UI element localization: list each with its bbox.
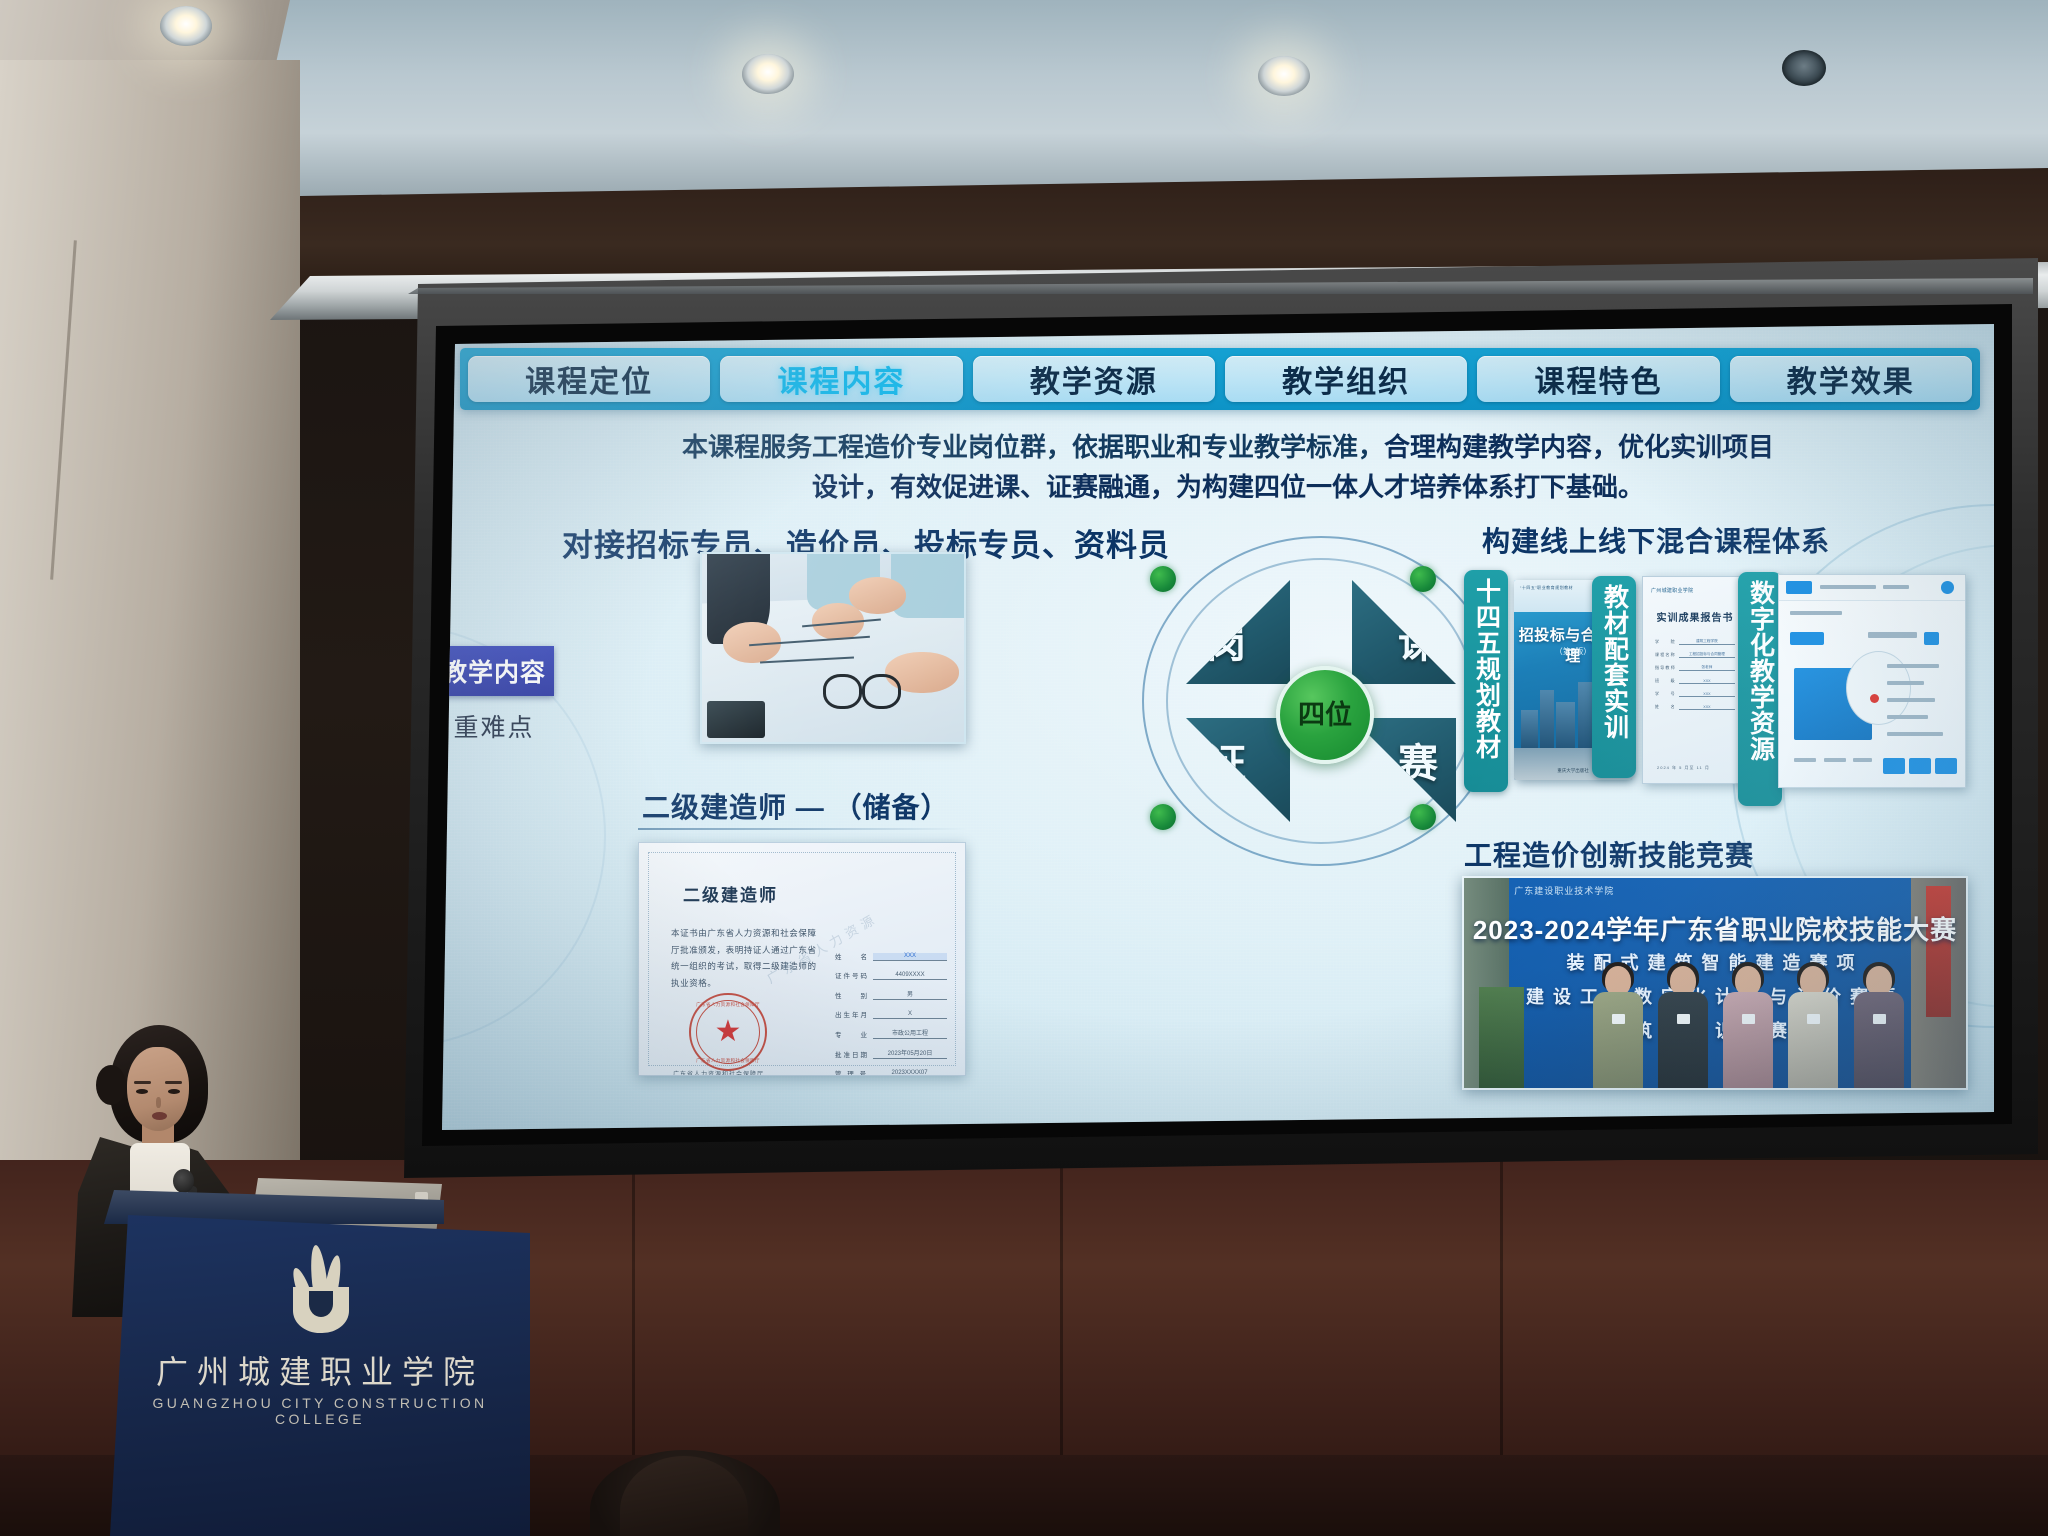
cert-field-label: 批准日期	[835, 1049, 869, 1059]
cert-field-value: X	[873, 1011, 947, 1019]
heading-blended-course-system: 构建线上线下混合课程体系	[1482, 520, 1830, 560]
webshot-record-dot-icon	[1870, 694, 1879, 703]
competition-student	[1851, 966, 1907, 1088]
webshot-line	[1887, 664, 1939, 668]
cert-field-label: 证件号码	[835, 970, 869, 980]
webshot-user-chip	[1941, 581, 1954, 594]
student-body	[1854, 992, 1904, 1090]
webshot-nav-text	[1883, 585, 1909, 589]
vtab-training-materials: 教材配套实训	[1592, 576, 1636, 778]
webshot-stat	[1824, 758, 1846, 762]
digital-platform-screenshot	[1778, 574, 1966, 788]
webshot-line	[1887, 698, 1935, 702]
vtab-digital-resources: 数字化教学资源	[1738, 572, 1782, 806]
wall-crack	[50, 240, 77, 579]
report-field-label: 课程名称	[1655, 652, 1676, 658]
webshot-heading	[1868, 632, 1916, 638]
webshot-status-chip	[1924, 632, 1939, 645]
report-field-value: XXX	[1679, 679, 1735, 684]
textbook-series-line: “十四五”职业教育规划教材	[1520, 585, 1573, 591]
report-field-value: 工程招投标与合同管理	[1679, 652, 1735, 658]
report-field-row: 学 院 建筑工程学院	[1655, 639, 1735, 645]
webshot-action-badge[interactable]	[1935, 758, 1957, 774]
cert-field-value: 2023年05月20日	[873, 1048, 947, 1059]
certificate-field-row: 姓 名 XXX	[835, 951, 947, 961]
four-in-one-diagram: 岗 课 证 赛 四位	[1142, 536, 1500, 866]
tag-teaching-content-label: 教学内容	[442, 646, 554, 696]
certificate-footer: 广东省人力资源和社会保障厅	[673, 1069, 764, 1076]
certificate-field-list: 姓 名 XXX 证件号码 4409XXXX 性 别 男 出生年月 X	[835, 951, 947, 1076]
report-field-value: XXX	[1679, 705, 1735, 710]
subtitle-line2: 设计，有效促进课、证赛融通，为构建四位一体人才培养体系打下基础。	[538, 468, 1918, 508]
webshot-nav-text	[1820, 585, 1876, 589]
cert-field-value: 男	[873, 989, 947, 1000]
webshot-action-badge[interactable]	[1909, 758, 1931, 774]
conference-room: 课程定位 课程内容 教学资源 教学组织 课程特色 教学效果 本课程服务工程造价专…	[0, 0, 2048, 1536]
webshot-brand-mark	[1790, 632, 1823, 645]
college-name-en: GUANGZHOU CITY CONSTRUCTION COLLEGE	[110, 1395, 530, 1427]
certificate-image: 二级建造师 本证书由广东省人力资源和社会保障厅批准颁发，表明持证人通过广东省统一…	[638, 842, 966, 1076]
competition-host-logo: 广东建设职业技术学院	[1514, 884, 1614, 897]
report-field-label: 姓 名	[1655, 704, 1676, 710]
heading-certificate: 二级建造师 — （储备）	[642, 786, 950, 826]
cert-field-label: 专 业	[835, 1029, 869, 1039]
report-field-value: XXX	[1679, 692, 1735, 697]
presenter-hair-bun	[96, 1065, 126, 1105]
diagram-node-top-left	[1150, 566, 1176, 592]
report-field-row: 指导教师 张老师	[1655, 665, 1735, 671]
skyline-tower	[1540, 690, 1554, 752]
ceiling-light-3	[1258, 56, 1310, 96]
student-badge	[1873, 1014, 1886, 1024]
photo-hand-3	[849, 577, 907, 615]
certificate-field-row: 批准日期 2023年05月20日	[835, 1048, 947, 1059]
tab-teaching-effect[interactable]: 教学效果	[1730, 356, 1972, 402]
photo-device	[707, 701, 765, 739]
report-field-value: 张老师	[1679, 665, 1735, 671]
microphone-icon[interactable]	[173, 1169, 194, 1193]
seal-top-text: 广东省人力资源和社会保障厅	[696, 1002, 760, 1008]
podium: 广州城建职业学院 GUANGZHOU CITY CONSTRUCTION COL…	[110, 1215, 530, 1536]
seal-star-icon: ★	[715, 1017, 742, 1047]
presenter-eye-left	[136, 1089, 148, 1094]
ceiling-speaker-icon	[1782, 50, 1826, 86]
diagram-center-circle: 四位	[1276, 666, 1374, 764]
webshot-stat	[1853, 758, 1872, 762]
certificate-seal-icon: 广东省人力资源和社会保障厅 ★ 广东省人力资源和社会保障厅	[689, 993, 767, 1071]
cert-field-value: 4409XXXX	[873, 972, 947, 980]
cert-field-value: XXX	[873, 953, 947, 961]
student-badge	[1677, 1014, 1690, 1024]
presenter-eye-right	[168, 1089, 180, 1094]
webshot-line	[1887, 715, 1928, 719]
ceiling-light-1	[160, 6, 212, 46]
vtab-digital-resources-label: 数字化教学资源	[1747, 580, 1774, 762]
presenter-brow-left	[134, 1081, 151, 1084]
student-body	[1723, 992, 1773, 1090]
training-report-cover: 广州城建职业学院 实训成果报告书 学 院 建筑工程学院 课程名称 工程招投标与合…	[1642, 576, 1748, 784]
projection-screen[interactable]: 课程定位 课程内容 教学资源 教学组织 课程特色 教学效果 本课程服务工程造价专…	[398, 258, 2038, 1178]
cert-field-value: 市政公用工程	[873, 1028, 947, 1039]
certificate-field-row: 性 别 男	[835, 989, 947, 1000]
skyline-tower	[1521, 710, 1538, 752]
cert-field-label: 管 理 号	[835, 1068, 868, 1076]
competition-student	[1590, 966, 1646, 1088]
vtab-planning-textbook: 十四五规划教材	[1464, 570, 1508, 792]
diagram-node-bottom-right	[1410, 804, 1436, 830]
student-badge	[1612, 1014, 1625, 1024]
flame-base	[293, 1287, 349, 1333]
tab-course-positioning[interactable]: 课程定位	[468, 356, 710, 402]
report-field-label: 班 级	[1655, 678, 1676, 684]
slide-content[interactable]: 课程定位 课程内容 教学资源 教学组织 课程特色 教学效果 本课程服务工程造价专…	[442, 324, 1994, 1130]
heading-competition: 工程造价创新技能竞赛	[1464, 834, 1754, 874]
cert-field-label: 性 别	[835, 990, 869, 1000]
webshot-stat	[1794, 758, 1816, 762]
seal-bottom-text: 广东省人力资源和社会保障厅	[696, 1058, 760, 1064]
tab-teaching-organization[interactable]: 教学组织	[1225, 356, 1467, 402]
webshot-logo-chip	[1786, 581, 1812, 594]
vtab-training-materials-label: 教材配套实训	[1601, 584, 1628, 740]
ceiling-light-2	[742, 54, 794, 94]
teaching-content-tag: 教学内容 重难点	[442, 646, 554, 744]
diagram-center-label: 四位	[1298, 702, 1352, 729]
report-date: 2024 年 5 月至 11 月	[1657, 765, 1710, 771]
photo-glasses-icon	[823, 674, 902, 702]
presenter-face	[127, 1047, 189, 1131]
presenter-brow-right	[165, 1081, 182, 1084]
competition-student	[1720, 966, 1776, 1088]
competition-banner-title: 2023-2024学年广东省职业院校技能大赛	[1464, 910, 1966, 947]
slide-tab-bar[interactable]: 课程定位 课程内容 教学资源 教学组织 课程特色 教学效果	[460, 348, 1980, 410]
photo-blueprint-meeting	[700, 552, 966, 744]
report-field-row: 学 号 XXX	[1655, 691, 1735, 697]
photo-glasses-lens-left	[823, 674, 862, 708]
report-field-list: 学 院 建筑工程学院 课程名称 工程招投标与合同管理 指导教师 张老师 班 级 …	[1655, 639, 1735, 717]
tag-key-difficulty-label: 重难点	[442, 696, 554, 744]
certificate-field-row: 证件号码 4409XXXX	[835, 970, 947, 980]
diagram-node-bottom-left	[1150, 804, 1176, 830]
subtitle-line1-normal: 本课程服务工程造价专业岗位群，依据职业和专业教学标准，	[682, 432, 1384, 462]
report-title: 实训成果报告书	[1643, 609, 1747, 624]
subtitle-line1-bold: 合理构建教学内容，优化实训项目	[1384, 432, 1774, 462]
report-field-row: 姓 名 XXX	[1655, 704, 1735, 710]
tab-course-features[interactable]: 课程特色	[1477, 356, 1719, 402]
cert-field-value: 2023XXXX07	[872, 1070, 947, 1076]
presenter-nose	[156, 1097, 161, 1108]
student-body	[1658, 992, 1708, 1090]
student-body	[1788, 992, 1838, 1090]
presenter-mouth	[152, 1112, 167, 1120]
flame-logo-icon	[277, 1245, 363, 1333]
vtab-planning-textbook-label: 十四五规划教材	[1473, 578, 1500, 760]
student-badge	[1742, 1014, 1755, 1024]
report-field-row: 课程名称 工程招投标与合同管理	[1655, 652, 1735, 658]
webshot-line	[1887, 681, 1924, 685]
slide-subtitle: 本课程服务工程造价专业岗位群，依据职业和专业教学标准，合理构建教学内容，优化实训…	[538, 428, 1918, 507]
tab-teaching-resources[interactable]: 教学资源	[973, 356, 1215, 402]
report-field-row: 班 级 XXX	[1655, 678, 1735, 684]
certificate-title: 二级建造师	[683, 881, 778, 906]
certificate-field-row: 管 理 号 2023XXXX07	[835, 1068, 947, 1076]
report-college-logo: 广州城建职业学院	[1651, 587, 1693, 594]
college-name-cn: 广州城建职业学院	[110, 1347, 530, 1393]
report-field-label: 学 院	[1655, 639, 1676, 645]
left-wall	[0, 60, 300, 1160]
student-body	[1593, 992, 1643, 1090]
diagram-node-top-right	[1410, 566, 1436, 592]
competition-student	[1785, 966, 1841, 1088]
cert-field-label: 姓 名	[835, 951, 869, 961]
photo-glasses-lens-right	[862, 674, 901, 708]
report-field-value: 建筑工程学院	[1679, 639, 1735, 645]
photo-skills-competition: 广东建设职业技术学院 2023-2024学年广东省职业院校技能大赛 装配式建筑智…	[1462, 876, 1968, 1090]
skyline-tower	[1578, 682, 1592, 752]
competition-student	[1655, 966, 1711, 1088]
webshot-line	[1887, 732, 1943, 736]
certificate-field-row: 专 业 市政公用工程	[835, 1028, 947, 1039]
cert-field-label: 出生年月	[835, 1009, 869, 1019]
certificate-underline	[638, 828, 968, 830]
report-field-label: 指导教师	[1655, 665, 1676, 671]
tab-course-content[interactable]: 课程内容	[720, 356, 962, 402]
report-field-label: 学 号	[1655, 691, 1676, 697]
certificate-field-row: 出生年月 X	[835, 1009, 947, 1019]
skyline-tower	[1556, 702, 1575, 752]
webshot-breadcrumb	[1790, 611, 1842, 615]
audience-hair	[620, 1456, 748, 1536]
student-badge	[1807, 1014, 1820, 1024]
webshot-action-badge[interactable]	[1883, 758, 1905, 774]
